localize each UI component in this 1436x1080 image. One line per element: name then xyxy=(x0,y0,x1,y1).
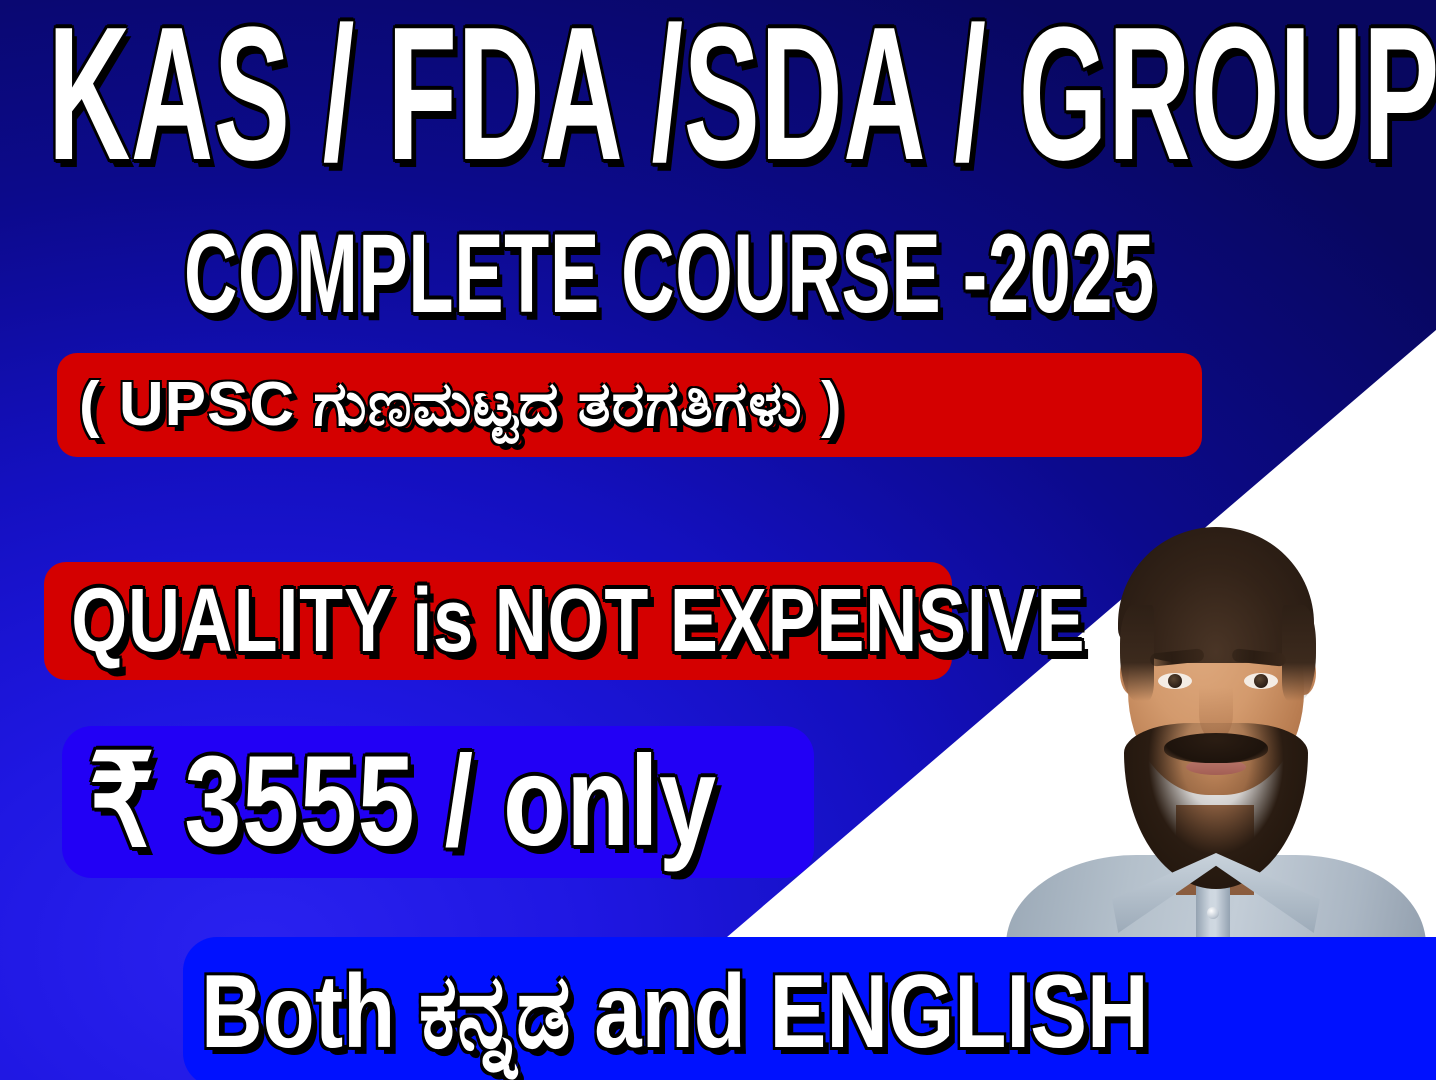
promo-poster: KAS / FDA /SDA / GROUP -C COMPLETE COURS… xyxy=(0,0,1436,1080)
eye-right xyxy=(1244,673,1278,689)
kannada-tagline-banner: ( UPSC ಗುಣಮಟ್ಟದ ತರಗತಿಗಳು ) xyxy=(57,353,1202,457)
languages-banner: Both ಕನ್ನಡ and ENGLISH xyxy=(183,937,1436,1080)
hair-side-left xyxy=(1120,605,1154,701)
poster-title-line1: KAS / FDA /SDA / GROUP -C xyxy=(48,0,1436,194)
price-banner: ₹ 3555 / only xyxy=(62,726,814,878)
hair-side-right xyxy=(1282,605,1316,701)
quality-banner: QUALITY is NOT EXPENSIVE xyxy=(44,562,952,680)
quality-banner-text: QUALITY is NOT EXPENSIVE xyxy=(44,576,1085,666)
eye-left xyxy=(1158,673,1192,689)
mustache xyxy=(1164,733,1268,763)
kannada-tagline-text: ( UPSC ಗುಣಮಟ್ಟದ ತರಗತಿಗಳು ) xyxy=(57,369,843,441)
poster-title-line2: COMPLETE COURSE -2025 xyxy=(184,218,1155,330)
price-text: ₹ 3555 / only xyxy=(62,738,717,866)
shirt-button xyxy=(1207,907,1219,919)
languages-text: Both ಕನ್ನಡ and ENGLISH xyxy=(183,960,1149,1064)
